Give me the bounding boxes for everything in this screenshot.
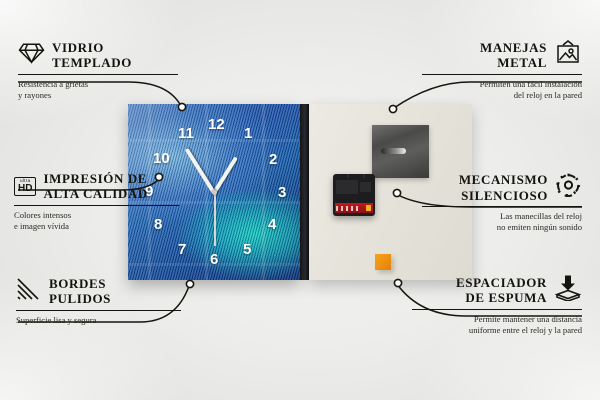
hd-badge-large-text: HD: [18, 184, 32, 194]
clock-numeral-5: 5: [243, 242, 251, 257]
callout-desc-line1: Colores intensos: [14, 210, 71, 220]
diagonal-lines-icon: [16, 277, 42, 306]
ultra-hd-badge-icon: ultra HD: [14, 177, 36, 196]
clock-mechanism-part: [333, 174, 375, 216]
callout-title-line2: METAL: [497, 55, 547, 70]
callout-divider: [422, 206, 582, 207]
callout-desc-line2: e imagen vívida: [14, 221, 69, 231]
callout-desc-line1: Superficie lisa y segura: [16, 315, 96, 325]
clock-numeral-12: 12: [208, 117, 225, 132]
callout-description: Las manecillas del reloj no emiten ningú…: [422, 211, 582, 234]
callout-desc-line1: Las manecillas del reloj: [500, 211, 582, 221]
callout-description: Superficie lisa y segura: [16, 315, 181, 326]
callout-title-line2: DE ESPUMA: [465, 290, 547, 305]
callout-desc-line1: Resistencia a grietas: [18, 79, 88, 89]
callout-divider: [14, 205, 179, 206]
callout-divider: [16, 310, 181, 311]
callout-title-line2: TEMPLADO: [52, 55, 132, 70]
mechanism-label-text: [336, 206, 361, 211]
clock-side-edge: [300, 104, 309, 280]
callout-title-line1: VIDRIO: [52, 40, 104, 55]
callout-head: MECANISMO SILENCIOSO: [422, 172, 582, 203]
callout-desc-line1: Permiten una fácil instalación: [480, 79, 582, 89]
callout-mecanismo-silencioso[interactable]: MECANISMO SILENCIOSO Las manecillas del …: [422, 172, 582, 234]
mechanism-hanger-loop: [347, 174, 364, 178]
product-photo: 12 1 2 3 4 5 6 7 8 9 10 11: [128, 104, 472, 280]
clock-numeral-10: 10: [153, 151, 170, 166]
metal-hanger-part: [372, 125, 429, 178]
callout-title: MANEJAS METAL: [480, 40, 547, 71]
connector-dot-espaciador: [394, 279, 401, 286]
diamond-icon: [18, 41, 45, 70]
callout-description: Permiten una fácil instalación del reloj…: [422, 79, 582, 102]
framed-picture-icon: [554, 40, 582, 70]
clock-numeral-3: 3: [278, 185, 286, 200]
callout-head: VIDRIO TEMPLADO: [18, 40, 178, 71]
foam-spacer-part: [375, 254, 391, 270]
mechanism-body-block: [336, 180, 358, 194]
callout-title-line1: ESPACIADOR: [456, 275, 547, 290]
callout-title: IMPRESIÓN DE ALTA CALIDAD: [43, 171, 147, 202]
callout-espaciador-espuma[interactable]: ESPACIADOR DE ESPUMA Permite mantener un…: [412, 274, 582, 337]
callout-title-line2: SILENCIOSO: [461, 188, 548, 203]
callout-description: Resistencia a grietas y rayones: [18, 79, 178, 102]
callout-impresion-alta-calidad[interactable]: ultra HD IMPRESIÓN DE ALTA CALIDAD Color…: [14, 171, 179, 232]
clock-numeral-6: 6: [210, 252, 218, 267]
clock-second-hand: [214, 192, 216, 246]
callout-vidrio-templado[interactable]: VIDRIO TEMPLADO Resistencia a grietas y …: [18, 40, 178, 101]
callout-title-line1: MECANISMO: [459, 172, 548, 187]
clock-numeral-2: 2: [269, 152, 277, 167]
callout-head: ESPACIADOR DE ESPUMA: [412, 274, 582, 306]
arrow-press-pad-icon: [554, 274, 582, 306]
callout-title: VIDRIO TEMPLADO: [52, 40, 132, 71]
callout-desc-line2: y rayones: [18, 90, 51, 100]
callout-title-line1: IMPRESIÓN DE: [43, 171, 147, 186]
callout-title-line1: BORDES: [49, 276, 106, 291]
callout-divider: [412, 309, 582, 310]
callout-divider: [18, 74, 178, 75]
gear-icon: [555, 172, 582, 203]
callout-description: Permite mantener una distancia uniforme …: [412, 314, 582, 337]
callout-desc-line2: del reloj en la pared: [514, 90, 582, 100]
callout-head: ultra HD IMPRESIÓN DE ALTA CALIDAD: [14, 171, 179, 202]
clock-numeral-7: 7: [178, 242, 186, 257]
hanger-keyhole-slot: [381, 148, 406, 154]
callout-title: MECANISMO SILENCIOSO: [459, 172, 548, 203]
callout-divider: [422, 74, 582, 75]
infographic-canvas: 12 1 2 3 4 5 6 7 8 9 10 11: [0, 0, 600, 400]
callout-bordes-pulidos[interactable]: BORDES PULIDOS Superficie lisa y segura: [16, 276, 181, 326]
callout-head: BORDES PULIDOS: [16, 276, 181, 307]
mechanism-shaft-block: [360, 182, 371, 192]
callout-description: Colores intensos e imagen vívida: [14, 210, 179, 233]
callout-title: ESPACIADOR DE ESPUMA: [456, 275, 547, 306]
clock-numeral-4: 4: [268, 217, 276, 232]
callout-title-line2: PULIDOS: [49, 291, 111, 306]
callout-title-line2: ALTA CALIDAD: [43, 186, 147, 201]
callout-desc-line1: Permite mantener una distancia: [474, 314, 582, 324]
callout-title: BORDES PULIDOS: [49, 276, 111, 307]
callout-desc-line2: uniforme entre el reloj y la pared: [469, 325, 582, 335]
clock-center-hub: [212, 190, 217, 195]
connector-dot-bordes: [186, 280, 193, 287]
callout-title-line1: MANEJAS: [480, 40, 547, 55]
callout-head: MANEJAS METAL: [422, 40, 582, 71]
clock-numeral-11: 11: [178, 126, 194, 141]
callout-desc-line2: no emiten ningún sonido: [497, 222, 582, 232]
clock-numeral-1: 1: [244, 126, 252, 141]
callout-manejas-metal[interactable]: MANEJAS METAL Permiten una fácil instala…: [422, 40, 582, 101]
